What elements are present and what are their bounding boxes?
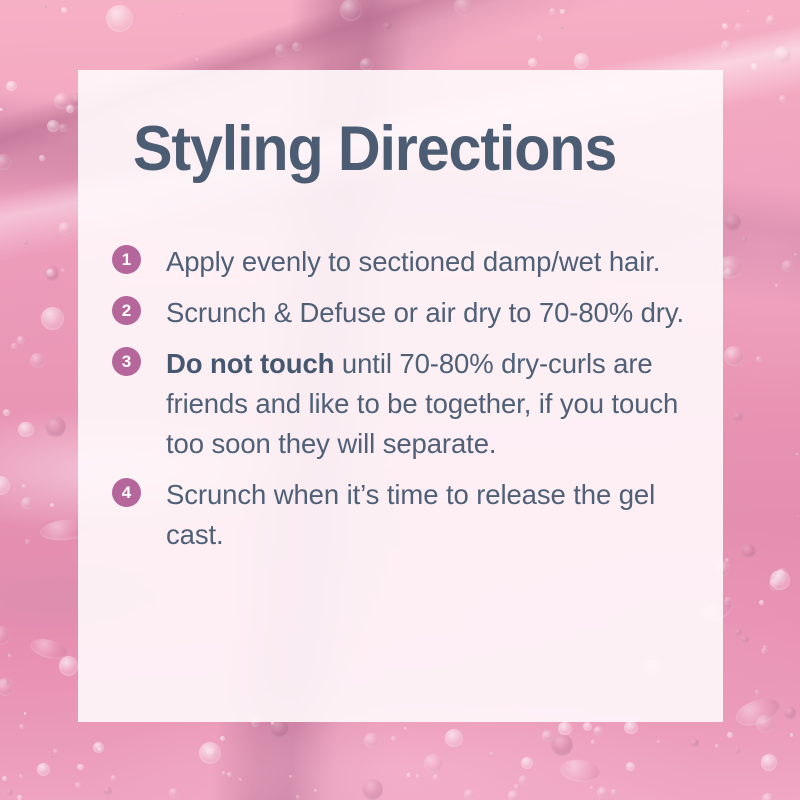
gel-bubble <box>59 656 78 675</box>
gel-bubble <box>549 8 556 15</box>
gel-bubble <box>690 739 699 748</box>
gel-bubble <box>733 412 742 421</box>
gel-bubble <box>508 790 519 800</box>
gel-bubble <box>23 240 28 245</box>
gel-bubble <box>794 253 797 256</box>
gel-bubble <box>775 284 778 287</box>
instruction-step: 4Scrunch when it’s time to release the g… <box>112 475 702 555</box>
screenshot-canvas: Styling Directions 1Apply evenly to sect… <box>0 0 800 800</box>
gel-bubble <box>19 774 22 777</box>
gel-bubble <box>227 772 232 777</box>
gel-bubble <box>735 23 743 31</box>
gel-bubble <box>77 764 84 771</box>
gel-bubble <box>49 754 53 758</box>
gel-bubble <box>30 353 46 369</box>
gel-bubble <box>784 707 796 719</box>
gel-bubble <box>735 629 742 636</box>
gel-bubble <box>721 40 732 51</box>
gel-bubble <box>715 744 720 749</box>
gel-bubble <box>724 346 744 366</box>
gel-bubble <box>722 23 728 29</box>
gel-bubble <box>45 266 59 280</box>
gel-bubble <box>734 748 740 754</box>
instruction-step: 1Apply evenly to sectioned damp/wet hair… <box>112 242 702 282</box>
gel-bubble <box>742 237 748 243</box>
step-text-emphasis: Do not touch <box>166 348 334 379</box>
step-text: Scrunch when it’s time to release the ge… <box>166 475 702 555</box>
gel-bubble <box>741 544 755 558</box>
gel-bubble <box>18 422 34 438</box>
gel-bubble <box>61 268 65 272</box>
gel-bubble <box>181 12 184 15</box>
gel-bubble <box>54 93 70 109</box>
gel-bubble <box>2 776 7 781</box>
gel-bubble <box>574 53 589 68</box>
gel-bubble <box>340 0 362 21</box>
instruction-step: 3Do not touch until 70-80% dry-curls are… <box>112 344 702 464</box>
gel-bubble <box>594 726 603 735</box>
gel-bubble <box>43 5 47 9</box>
gel-bubble <box>611 789 617 795</box>
gel-bubble <box>407 773 410 776</box>
gel-bubble <box>464 789 475 800</box>
gel-droplet <box>559 757 602 784</box>
gel-bubble <box>21 497 34 510</box>
gel-bubble <box>727 732 733 738</box>
gel-bubble <box>41 307 64 330</box>
gel-bubble <box>782 260 794 272</box>
gel-bubble <box>199 742 222 765</box>
gel-bubble <box>0 678 14 696</box>
gel-bubble <box>490 752 493 755</box>
gel-bubble <box>17 795 22 800</box>
gel-bubble <box>528 58 537 67</box>
gel-bubble <box>39 155 44 160</box>
gel-bubble <box>774 46 791 63</box>
gel-bubble <box>657 740 660 743</box>
gel-bubble <box>514 784 519 789</box>
gel-bubble <box>424 754 443 773</box>
gel-bubble <box>519 775 529 785</box>
gel-bubble <box>797 515 799 517</box>
gel-bubble <box>0 626 10 646</box>
gel-bubble <box>0 154 11 170</box>
gel-bubble <box>111 775 117 781</box>
gel-bubble <box>558 722 571 735</box>
gel-bubble <box>47 120 59 132</box>
gel-bubble <box>59 124 68 133</box>
gel-bubble <box>275 44 288 57</box>
gel-bubble <box>756 356 762 362</box>
gel-bubble <box>590 786 593 789</box>
step-number-badge: 2 <box>112 296 141 325</box>
gel-bubble <box>59 222 72 235</box>
gel-bubble <box>6 81 17 92</box>
gel-bubble <box>45 417 66 438</box>
gel-bubble <box>75 782 82 789</box>
gel-bubble <box>762 793 775 800</box>
gel-bubble <box>755 690 758 693</box>
step-number-badge: 3 <box>112 347 141 376</box>
gel-bubble <box>779 95 787 103</box>
gel-bubble <box>222 771 226 775</box>
instruction-steps-list: 1Apply evenly to sectioned damp/wet hair… <box>112 242 702 566</box>
gel-bubble <box>761 754 778 771</box>
gel-bubble <box>445 729 462 746</box>
gel-bubble <box>19 724 24 729</box>
step-text: Scrunch & Defuse or air dry to 70-80% dr… <box>166 293 702 333</box>
gel-bubble <box>796 453 799 456</box>
gel-bubble <box>0 108 3 112</box>
gel-bubble <box>53 749 57 753</box>
gel-bubble <box>24 712 26 714</box>
gel-bubble <box>25 539 30 544</box>
gel-bubble <box>383 22 392 31</box>
gel-bubble <box>591 740 595 744</box>
gel-bubble <box>93 742 104 753</box>
gel-bubble <box>3 409 10 416</box>
gel-bubble <box>404 727 407 730</box>
gel-bubble <box>296 795 300 799</box>
gel-bubble <box>362 779 383 800</box>
gel-bubble <box>763 645 767 649</box>
gel-bubble <box>220 736 225 741</box>
content-card: Styling Directions 1Apply evenly to sect… <box>78 70 723 722</box>
gel-bubble <box>597 787 608 798</box>
gel-bubble <box>11 343 18 350</box>
gel-bubble <box>790 733 794 737</box>
gel-bubble <box>196 58 199 61</box>
gel-bubble <box>61 7 68 14</box>
gel-bubble <box>537 35 543 41</box>
gel-bubble <box>560 9 565 14</box>
gel-bubble <box>37 763 50 776</box>
gel-bubble <box>0 476 10 496</box>
instruction-step: 2Scrunch & Defuse or air dry to 70-80% d… <box>112 293 702 333</box>
gel-bubble <box>759 600 764 605</box>
step-text: Do not touch until 70-80% dry-curls are … <box>166 344 702 464</box>
gel-bubble <box>169 788 179 798</box>
gel-bubble <box>103 787 111 795</box>
gel-bubble <box>314 789 317 792</box>
gel-bubble <box>747 10 750 13</box>
gel-bubble <box>725 558 729 562</box>
step-text: Apply evenly to sectioned damp/wet hair. <box>166 242 702 282</box>
gel-bubble <box>454 0 474 16</box>
gel-bubble <box>106 5 133 32</box>
gel-bubble <box>391 736 396 741</box>
gel-bubble <box>561 26 564 29</box>
gel-bubble <box>289 775 292 778</box>
gel-bubble <box>751 63 757 69</box>
gel-bubble <box>50 503 54 507</box>
page-title: Styling Directions <box>133 118 616 181</box>
gel-bubble <box>624 721 637 734</box>
step-number-badge: 4 <box>112 478 141 507</box>
gel-bubble <box>741 636 749 644</box>
gel-bubble <box>583 722 592 731</box>
gel-bubble <box>239 778 242 781</box>
gel-bubble <box>17 336 25 344</box>
gel-bubble <box>433 774 439 780</box>
gel-bubble <box>6 789 13 796</box>
gel-bubble <box>364 733 379 748</box>
gel-bubble <box>551 734 573 756</box>
gel-bubble <box>22 484 25 487</box>
gel-bubble <box>292 42 301 51</box>
gel-bubble <box>724 214 741 231</box>
gel-bubble <box>8 653 11 656</box>
gel-bubble <box>766 15 776 25</box>
gel-bubble <box>521 757 533 769</box>
step-number-badge: 1 <box>112 245 141 274</box>
gel-bubble <box>416 774 419 777</box>
gel-bubble <box>626 762 635 771</box>
